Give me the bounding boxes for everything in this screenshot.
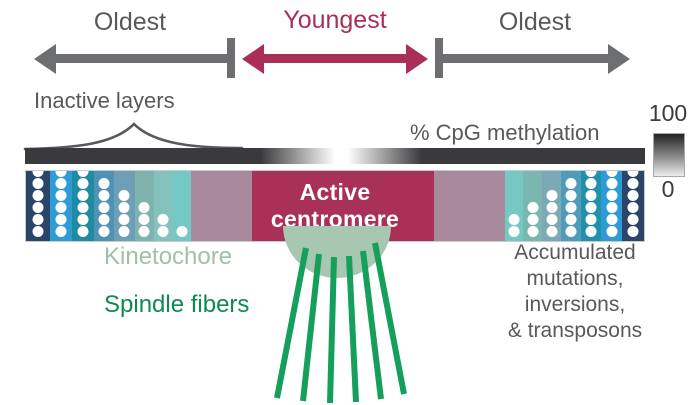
mutation-dot (546, 190, 557, 201)
mutation-dot (139, 202, 150, 213)
mutation-dot (78, 190, 89, 201)
mutation-dot (78, 202, 89, 213)
mutation-dot (527, 214, 538, 225)
axis-tick-right (435, 38, 443, 78)
legend-min-label: 0 (645, 176, 691, 203)
accumulated-mutations-note: Accumulated mutations, inversions, & tra… (470, 240, 680, 344)
mutation-dot (56, 178, 67, 189)
arrow-head-center-right-icon (406, 44, 428, 74)
mutation-dot (98, 214, 109, 225)
mutation-dot (56, 202, 67, 213)
mutation-dot (527, 202, 538, 213)
mutation-dot (627, 178, 638, 189)
mutation-dot (139, 214, 150, 225)
mutation-dot (566, 202, 577, 213)
mutations-note-line-3: inversions, (470, 292, 680, 318)
inactive-layers-label: Inactive layers (34, 88, 175, 114)
figure-canvas: Oldest Youngest Oldest Inactive layers %… (0, 0, 700, 405)
age-arrow-right (432, 38, 642, 80)
mutation-dot (586, 170, 597, 177)
mutation-dot (586, 178, 597, 189)
mutation-dot (627, 170, 638, 177)
mutation-dot (33, 178, 44, 189)
mutation-dot (566, 190, 577, 201)
methylation-track (25, 148, 645, 164)
kinetochore-label: Kinetochore (104, 243, 232, 271)
mutation-dot (606, 178, 617, 189)
legend-max-label: 100 (645, 100, 691, 127)
mutation-dot (33, 190, 44, 201)
mutation-dot (56, 190, 67, 201)
mutation-dot (56, 170, 67, 177)
age-label-right-oldest: Oldest (440, 8, 630, 37)
arrow-head-right-icon (608, 44, 630, 74)
age-label-youngest: Youngest (242, 6, 428, 35)
mutation-dot (586, 214, 597, 225)
mutation-dot (546, 214, 557, 225)
mutation-dot (627, 214, 638, 225)
mutation-dot (566, 178, 577, 189)
mutation-dot (606, 214, 617, 225)
mutation-dot (546, 202, 557, 213)
mutations-note-line-2: mutations, (470, 266, 680, 292)
mutation-dot (119, 190, 130, 201)
mutation-dot (606, 170, 617, 177)
mutation-dot (119, 202, 130, 213)
arrow-shaft-center (262, 54, 410, 63)
age-label-left-oldest: Oldest (35, 8, 225, 37)
mutation-dot (566, 214, 577, 225)
mutation-dot (78, 178, 89, 189)
age-arrow-left (0, 38, 240, 80)
mutation-dot (627, 202, 638, 213)
mutations-note-line-1: Accumulated (470, 240, 680, 266)
mutation-dot (509, 214, 520, 225)
mutation-dot (56, 214, 67, 225)
mutations-note-line-4: & transposons (470, 318, 680, 344)
methylation-track-label: % CpG methylation (410, 120, 600, 146)
mutation-dot (78, 214, 89, 225)
mutation-dot (33, 170, 44, 177)
mutation-dot (119, 214, 130, 225)
mutation-dot (98, 202, 109, 213)
mutation-dot (606, 202, 617, 213)
mutation-dot (33, 214, 44, 225)
axis-tick-left (227, 38, 235, 78)
arrow-head-left-icon (34, 44, 56, 74)
mutation-dot (158, 214, 169, 225)
mutation-dot (586, 190, 597, 201)
arrow-head-center-left-icon (242, 44, 264, 74)
spindle-fibers-label: Spindle fibers (104, 291, 249, 319)
mutation-dot (78, 170, 89, 177)
mutation-dot (627, 190, 638, 201)
mutation-dot (33, 202, 44, 213)
methylation-legend-gradient (653, 133, 685, 177)
mutation-dot (98, 190, 109, 201)
mutation-dot (606, 190, 617, 201)
arrow-shaft-left (55, 54, 231, 63)
mutation-dot (586, 202, 597, 213)
age-arrow-center (236, 38, 436, 80)
mutation-dot (98, 178, 109, 189)
arrow-shaft-right (443, 54, 609, 63)
